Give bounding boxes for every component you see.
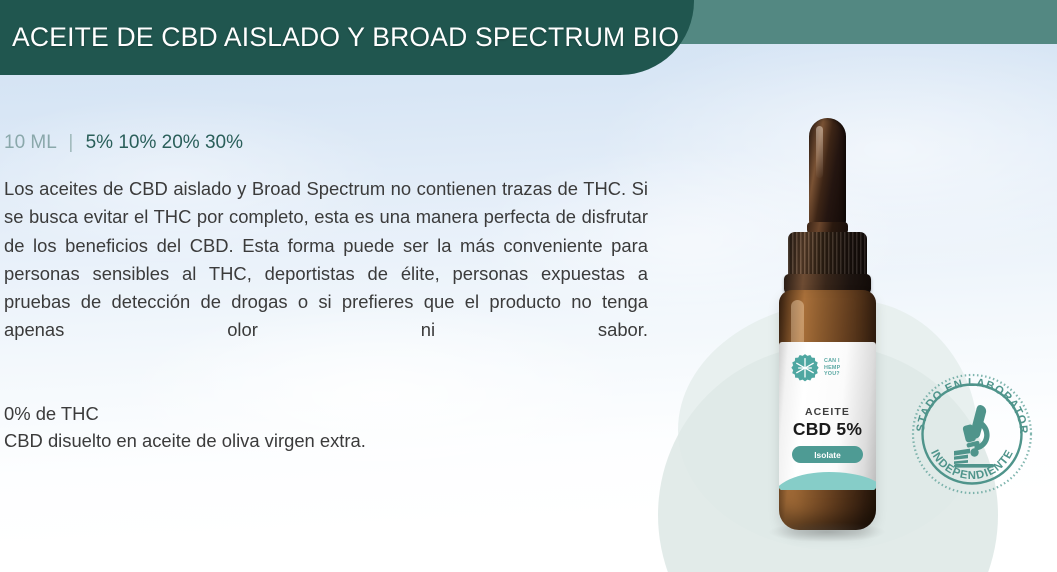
page-title: ACEITE DE CBD AISLADO Y BROAD SPECTRUM B… xyxy=(0,22,679,53)
header-banner: ACEITE DE CBD AISLADO Y BROAD SPECTRUM B… xyxy=(0,0,694,75)
hemp-leaf-icon xyxy=(790,353,820,383)
product-subtitle: 10 ML | 5% 10% 20% 30% xyxy=(4,132,654,154)
bottle-label: CAN I HEMP YOU? ACEITE CBD 5% Isolate xyxy=(779,342,876,490)
brand-line-2: HEMP xyxy=(824,365,840,372)
dropper-bulb xyxy=(809,118,846,230)
footnote-thc: 0% de THC xyxy=(4,400,654,427)
brand-lockup: CAN I HEMP YOU? xyxy=(790,353,840,383)
product-description: Los aceites de CBD aislado y Broad Spect… xyxy=(4,175,648,373)
lab-tested-seal: TESTADO EN LABORATORIO INDEPENDIENTE xyxy=(910,372,1034,496)
product-banner: ACEITE DE CBD AISLADO Y BROAD SPECTRUM B… xyxy=(0,0,1057,572)
product-info-column: 10 ML | 5% 10% 20% 30% Los aceites de CB… xyxy=(4,132,654,454)
product-footnotes: 0% de THC CBD disuelto en aceite de oliv… xyxy=(4,400,654,454)
volume-label: 10 ML xyxy=(4,132,56,153)
footnote-carrier-oil: CBD disuelto en aceite de oliva virgen e… xyxy=(4,427,654,454)
microscope-icon xyxy=(954,405,994,468)
label-strength: CBD 5% xyxy=(779,419,876,440)
brand-line-1: CAN I xyxy=(824,358,840,365)
subtitle-separator: | xyxy=(68,132,73,153)
concentration-options: 5% 10% 20% 30% xyxy=(86,132,243,153)
brand-name: CAN I HEMP YOU? xyxy=(824,358,840,378)
product-bottle-image: CAN I HEMP YOU? ACEITE CBD 5% Isolate xyxy=(767,118,887,530)
label-variant-badge: Isolate xyxy=(792,446,863,463)
bottle-drop-shadow xyxy=(769,522,885,542)
label-wave-front xyxy=(779,472,876,490)
brand-line-3: YOU? xyxy=(824,371,840,378)
label-product-word: ACEITE xyxy=(779,406,876,418)
